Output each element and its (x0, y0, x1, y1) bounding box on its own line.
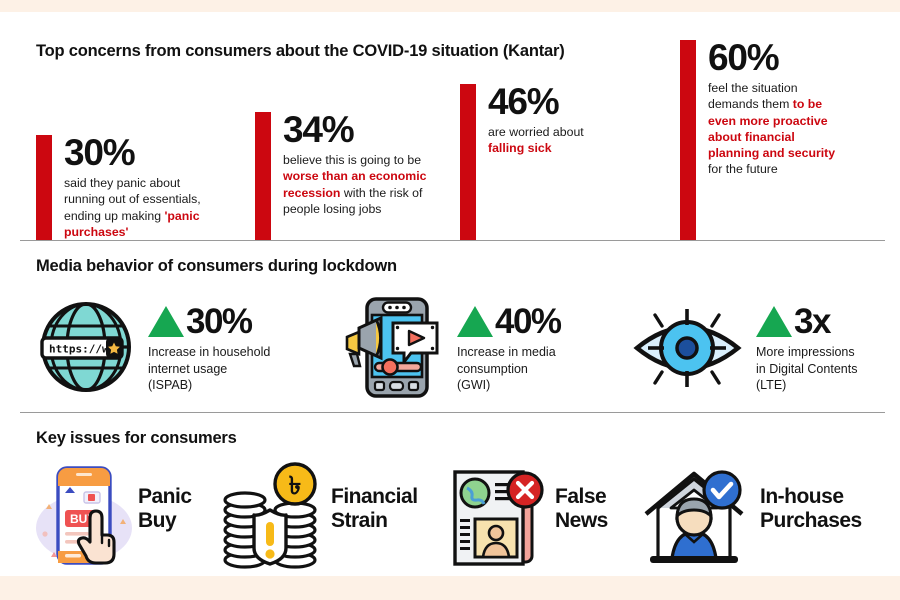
stat-highlight-text: planning and security (708, 146, 835, 160)
infographic-page: Top concerns from consumers about the CO… (0, 0, 900, 600)
stat-description-line: worse than an economic (283, 168, 461, 184)
stat-column: 46%are worried aboutfalling sick (460, 84, 666, 240)
stat-description-line: planning and security (708, 145, 886, 161)
newspaper-x-icon (445, 462, 557, 574)
media-desc-line: (ISPAB) (148, 377, 298, 394)
issue-label: Financial Strain (331, 485, 418, 532)
stat-highlight-text: purchases' (64, 225, 128, 239)
media-description: Increase in household internet usage (IS… (148, 344, 298, 394)
stat-percent: 60% (708, 40, 886, 76)
phone-megaphone-video-icon (345, 295, 445, 400)
coins-taka-alert-icon: ৳ (215, 462, 327, 574)
stat-bar (680, 40, 696, 240)
media-desc-line: consumption (457, 361, 607, 378)
stat-plain-text: with the risk of (340, 186, 422, 200)
globe-www-icon: https://www (36, 295, 136, 400)
phone-buy-hand-icon: BUY (32, 462, 144, 574)
stat-highlight-text: about financial (708, 130, 795, 144)
stat-column: 60%feel the situationdemands them to bee… (680, 40, 886, 240)
issue-label: False News (555, 485, 608, 532)
stat-description-line: about financial (708, 129, 886, 145)
stat-body: 34%believe this is going to beworse than… (283, 112, 461, 217)
media-body: 40% Increase in media consumption (GWI) (457, 301, 607, 394)
stat-description-line: feel the situation (708, 80, 886, 96)
media-number: 3x (794, 304, 830, 339)
stat-highlight-text: recession (283, 186, 340, 200)
stat-description-line: ending up making 'panic (64, 208, 242, 224)
section1-title: Top concerns from consumers about the CO… (36, 42, 565, 61)
stat-description-line: purchases' (64, 224, 242, 240)
media-desc-line: in Digital Contents (756, 361, 900, 378)
eye-target-icon (630, 295, 745, 400)
media-body: 30% Increase in household internet usage… (148, 301, 298, 394)
stat-highlight-text: falling sick (488, 141, 552, 155)
stat-plain-text: ending up making (64, 209, 165, 223)
stat-body: 60%feel the situationdemands them to bee… (708, 40, 886, 178)
media-desc-line: (LTE) (756, 377, 900, 394)
stat-column: 34%believe this is going to beworse than… (255, 112, 461, 240)
stat-description: are worried aboutfalling sick (488, 124, 666, 156)
stat-description-line: people losing jobs (283, 201, 461, 217)
media-number: 30% (186, 304, 252, 339)
taka-symbol: ৳ (289, 471, 301, 500)
stat-description: feel the situationdemands them to beeven… (708, 80, 886, 177)
issue-label: In-house Purchases (760, 485, 862, 532)
stat-plain-text: demands them (708, 97, 793, 111)
stat-description-line: recession with the risk of (283, 185, 461, 201)
media-number: 40% (495, 304, 561, 339)
divider-1 (20, 240, 885, 241)
media-desc-line: More impressions (756, 344, 900, 361)
stat-highlight-text: 'panic (165, 209, 200, 223)
stat-description-line: for the future (708, 161, 886, 177)
stat-column: 30%said they panic aboutrunning out of e… (36, 135, 242, 240)
stat-plain-text: people losing jobs (283, 202, 381, 216)
trend-up-triangle-icon (756, 306, 792, 337)
stat-description-line: even more proactive (708, 113, 886, 129)
stat-plain-text: believe this is going to be (283, 153, 421, 167)
infographic-canvas: Top concerns from consumers about the CO… (0, 12, 900, 576)
media-desc-line: internet usage (148, 361, 298, 378)
media-desc-line: Increase in household (148, 344, 298, 361)
stat-highlight-text: worse than an economic (283, 169, 427, 183)
stat-bar (255, 112, 271, 240)
stat-percent: 46% (488, 84, 666, 120)
stat-description-line: demands them to be (708, 96, 886, 112)
stat-body: 30%said they panic aboutrunning out of e… (64, 135, 242, 240)
media-desc-line: Increase in media (457, 344, 607, 361)
stat-description-line: believe this is going to be (283, 152, 461, 168)
stat-bar (460, 84, 476, 240)
section2-title: Media behavior of consumers during lockd… (36, 257, 397, 276)
stat-description-line: running out of essentials, (64, 191, 242, 207)
stat-plain-text: said they panic about (64, 176, 180, 190)
stat-percent: 34% (283, 112, 461, 148)
stat-description-line: falling sick (488, 140, 666, 156)
stat-description-line: said they panic about (64, 175, 242, 191)
stat-body: 46%are worried aboutfalling sick (488, 84, 666, 157)
stat-description-line: are worried about (488, 124, 666, 140)
media-description: More impressions in Digital Contents (LT… (756, 344, 900, 394)
media-body: 3x More impressions in Digital Contents … (756, 301, 900, 394)
stat-plain-text: are worried about (488, 125, 584, 139)
stat-description: said they panic aboutrunning out of esse… (64, 175, 242, 240)
stat-plain-text: for the future (708, 162, 778, 176)
stat-highlight-text: to be (793, 97, 822, 111)
media-desc-line: (GWI) (457, 377, 607, 394)
trend-up-triangle-icon (457, 306, 493, 337)
issue-label: Panic Buy (138, 485, 192, 532)
divider-2 (20, 412, 885, 413)
house-person-check-icon (638, 462, 750, 574)
trend-up-triangle-icon (148, 306, 184, 337)
stat-description: believe this is going to beworse than an… (283, 152, 461, 217)
stat-plain-text: running out of essentials, (64, 192, 201, 206)
section3-title: Key issues for consumers (36, 429, 237, 448)
media-description: Increase in media consumption (GWI) (457, 344, 607, 394)
stat-bar (36, 135, 52, 240)
stat-percent: 30% (64, 135, 242, 171)
stat-plain-text: feel the situation (708, 81, 798, 95)
stat-highlight-text: even more proactive (708, 114, 828, 128)
